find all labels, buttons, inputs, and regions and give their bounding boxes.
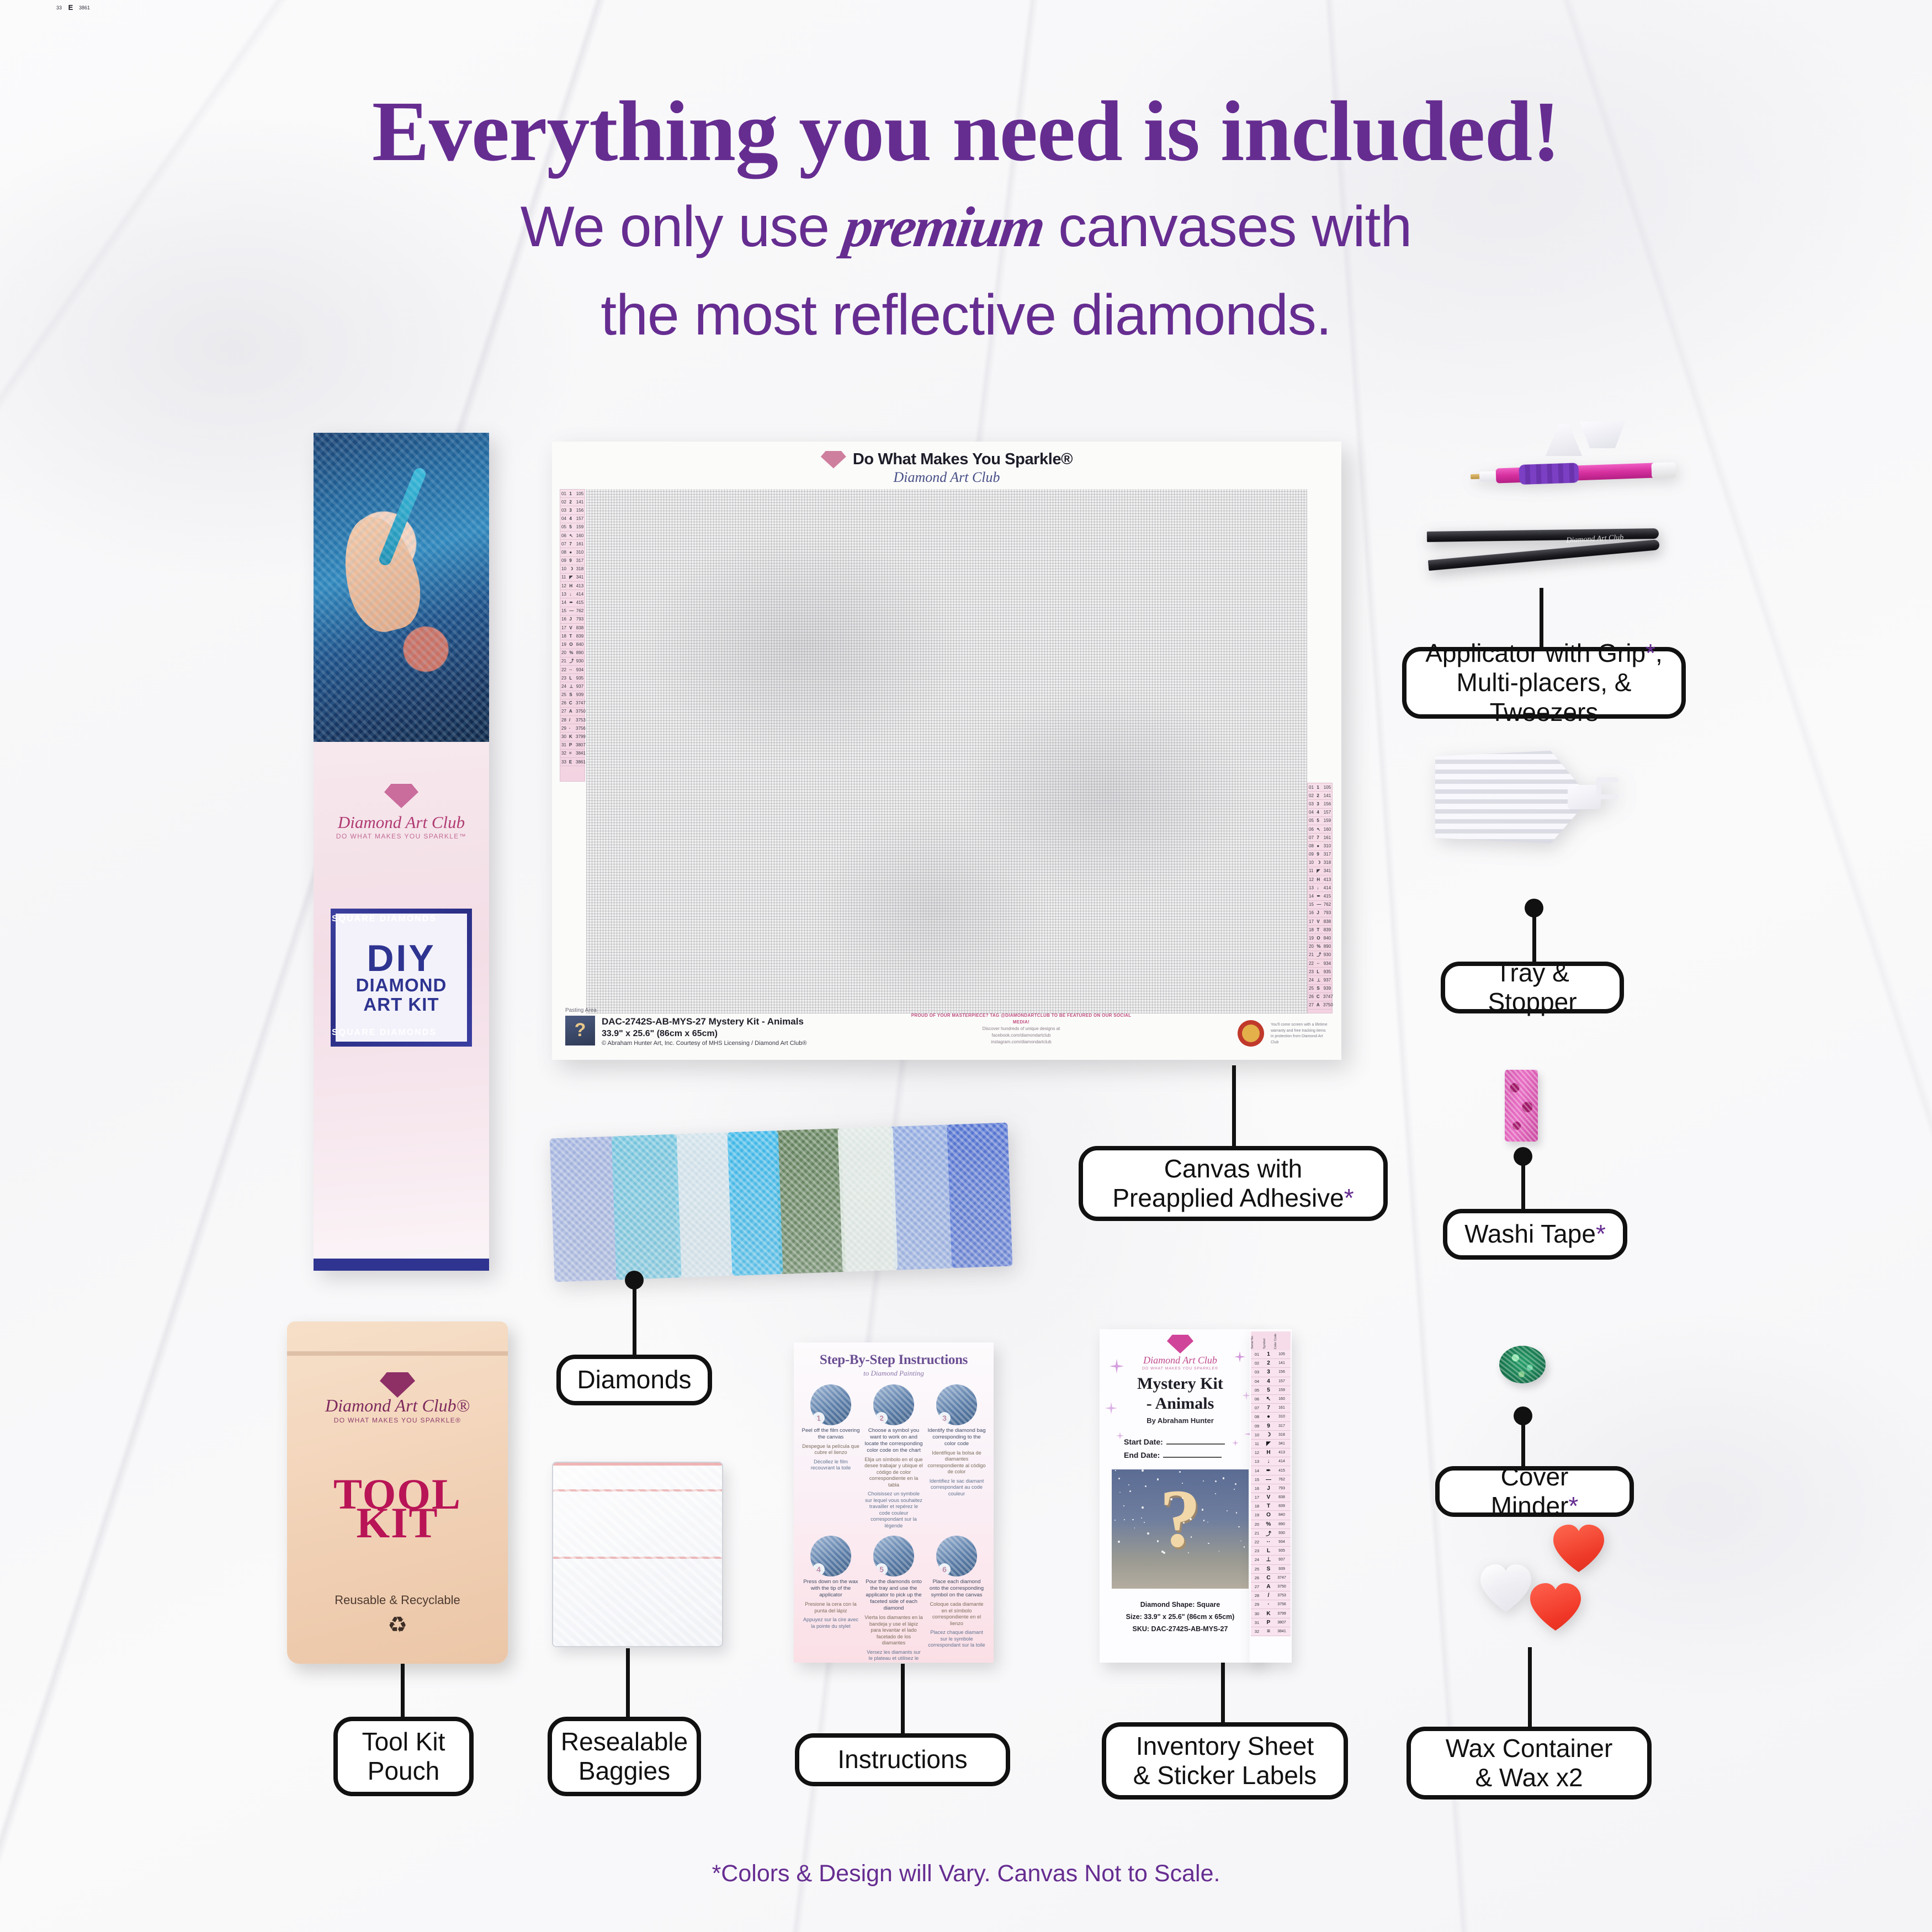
star-dot (1147, 1532, 1149, 1535)
star-dot (1141, 1517, 1142, 1519)
diamond-painting-canvas: Do What Makes You Sparkle® Diamond Art C… (552, 442, 1341, 1060)
star-dot (1182, 1483, 1183, 1484)
canvas-legend-row: 15—762 (560, 607, 585, 615)
star-dot (1202, 1509, 1203, 1510)
diy-title-line1: DIY (367, 941, 436, 976)
canvas-legend-row: 18T839 (1308, 926, 1332, 934)
diamond-bag (673, 1132, 736, 1277)
callout-wax-line1: Wax Container (1446, 1734, 1613, 1763)
sticker-row: 011105 (1251, 1350, 1291, 1359)
step-text-en: Peel off the film covering the canvas (802, 1427, 860, 1441)
canvas-legend-row: 31P3807 (560, 741, 585, 750)
sticker-row: 11◤341 (1251, 1440, 1291, 1448)
step-thumbnail: 3 (936, 1384, 977, 1425)
star-dot (1118, 1541, 1120, 1543)
diamond-icon (380, 1372, 415, 1398)
inventory-sku: SKU: DAC-2742S-AB-MYS-27 (1100, 1625, 1261, 1633)
canvas-legend-row: 16J793 (560, 615, 585, 624)
sticker-row: 20%890 (1251, 1520, 1291, 1529)
callout-canvas-line2: Preapplied Adhesive (1112, 1183, 1344, 1212)
inventory-brand-tagline: DO WHAT MAKES YOU SPARKLE® (1100, 1367, 1261, 1371)
diy-kit-box: Diamond Art Club DO WHAT MAKES YOU SPARK… (314, 433, 489, 1271)
tray-neck (1568, 785, 1601, 809)
sticker-row: 055159 (1251, 1386, 1291, 1395)
canvas-legend-row: 26C3747 (560, 699, 585, 708)
canvas-thumbnail: ? (565, 1016, 595, 1045)
callout-toolkit-line2: Pouch (368, 1756, 439, 1785)
callout-applicator-line1: Applicator with Grip (1425, 639, 1646, 667)
star-dot (1223, 1477, 1224, 1479)
applicator-grip (1519, 463, 1579, 485)
diamond-bag (728, 1130, 783, 1276)
sticker-table-body: 01110502214103315604415705515906↖1600771… (1251, 1350, 1291, 1636)
canvas-legend-row: 24⊥937 (560, 682, 585, 691)
step-number: 1 (813, 1412, 825, 1424)
tray-stopper (1596, 777, 1618, 799)
inventory-size: Size: 33.9" x 25.6" (86cm x 65cm) (1100, 1613, 1261, 1621)
sticker-row: 23L935 (1251, 1547, 1291, 1556)
callout-inventory-line1: Inventory Sheet (1136, 1732, 1314, 1760)
sticker-label-sheet: Serial No. Symbol Color Code 01110502214… (1250, 1329, 1292, 1663)
callout-toolkit-line1: Tool Kit (362, 1727, 445, 1756)
sticker-row: 28/3753 (1251, 1591, 1291, 1600)
canvas-legend-row: 08●310 (560, 548, 585, 556)
canvas-legend-row: 18T839 (560, 632, 585, 640)
sticker-row: 14✒415 (1251, 1466, 1291, 1475)
canvas-legend-row: 19O840 (1308, 934, 1332, 942)
sticker-row: 13↓414 (1251, 1457, 1291, 1466)
applicator-illustration (378, 466, 428, 567)
canvas-dimensions: 33.9" x 25.6" (86cm x 65cm) (602, 1028, 806, 1039)
canvas-legend-row: 13↓414 (560, 590, 585, 598)
step-text-fr: Décollez le film recouvrant la toile (802, 1459, 860, 1472)
step-text-es: Elija un símbolo en el que desee trabaja… (864, 1457, 923, 1489)
callout-wax-line2: & Wax x2 (1475, 1763, 1583, 1792)
canvas-legend-row: 32=3841 (560, 750, 585, 758)
disclaimer-footnote: *Colors & Design will Vary. Canvas Not t… (0, 1860, 1932, 1887)
callout-washi: Washi Tape* (1443, 1209, 1627, 1260)
leader-dot-cover-minder (1514, 1406, 1532, 1425)
start-date-field[interactable]: Start Date: (1124, 1437, 1225, 1446)
tweezers: Diamond Art Club (1427, 524, 1660, 571)
canvas-legend-left: 01110502214103315604415705515906↖1600771… (560, 489, 585, 782)
step-text-fr: Choisissez un symbole sur lequel vous so… (864, 1491, 923, 1529)
star-dot (1144, 1522, 1145, 1523)
baggie-seal-line (553, 1557, 723, 1559)
canvas-legend-row: 27A3750 (560, 708, 585, 716)
canvas-legend-row: 22··934 (560, 666, 585, 674)
canvas-legend-row: 25S939 (1308, 985, 1332, 993)
callout-washi-label: Washi Tape (1464, 1219, 1596, 1248)
end-date-rule (1163, 1457, 1222, 1458)
sticker-table-header: Serial No. Symbol Color Code (1251, 1331, 1291, 1350)
star-dot (1142, 1469, 1144, 1472)
leader-line-resealable (626, 1648, 630, 1719)
diamond-icon (384, 784, 418, 808)
start-date-label: Start Date: (1124, 1437, 1163, 1446)
step-text-en: Place each diamond onto the correspondin… (927, 1579, 986, 1599)
canvas-legend-row: 30K3799 (560, 733, 585, 741)
sticker-row: 21⤴930 (1251, 1529, 1291, 1538)
step-text-es: Despegue la película que cubre el lienzo (802, 1443, 860, 1456)
step-text-es: Presione la cera con la punta del lápiz (802, 1601, 860, 1614)
sticker-row: 099317 (1251, 1422, 1291, 1431)
step-text-fr: Placez chaque diamant sur le symbole cor… (927, 1630, 986, 1649)
multi-placer-icon (1546, 424, 1582, 456)
leader-line-instructions (901, 1664, 905, 1735)
sticker-row: 25S939 (1251, 1565, 1291, 1574)
wax-shape (1551, 1524, 1612, 1577)
canvas-pasting-area-label: Pasting Area (565, 1007, 597, 1013)
star-dot (1132, 1519, 1133, 1520)
inventory-preview-image: ? (1112, 1469, 1249, 1589)
step-text-en: Choose a symbol you want to work on and … (864, 1427, 923, 1454)
subtitle-script-word: premium (840, 194, 1048, 260)
star-dot (1191, 1536, 1192, 1538)
canvas-legend-row: 055159 (1308, 817, 1332, 825)
recycle-icon: ♻ (385, 1613, 410, 1637)
canvas-legend-row: 23L935 (560, 674, 585, 682)
canvas-legend-row: 33E3861 (560, 758, 585, 766)
instructions-sheet: Step-By-Step Instructions to Diamond Pai… (794, 1342, 994, 1663)
end-date-field[interactable]: End Date: (1124, 1451, 1222, 1459)
canvas-social-block: PROUD OF YOUR MASTERPIECE? TAG @DIAMONDA… (905, 1012, 1137, 1045)
diy-square-diamonds-bottom: SQUARE DIAMONDS (314, 1028, 455, 1038)
tool-kit-pouch: Diamond Art Club® DO WHAT MAKES YOU SPAR… (287, 1321, 508, 1664)
canvas-legend-row: 11◤341 (560, 574, 585, 582)
canvas-legend-row: 15—762 (1308, 901, 1332, 909)
subtitle-line-2: the most reflective diamonds. (0, 283, 1932, 348)
step-thumbnail: 6 (936, 1536, 977, 1577)
sticker-row: 24⊥937 (1251, 1556, 1291, 1564)
star-dot (1238, 1526, 1239, 1527)
leader-line-wax (1528, 1647, 1532, 1731)
step-thumbnail: 4 (810, 1536, 851, 1577)
diamond-tray (1435, 751, 1617, 843)
star-dot (1115, 1470, 1116, 1471)
step-text-en: Identify the diamond bag corresponding t… (927, 1427, 986, 1447)
sticker-row: 26C3747 (1251, 1574, 1291, 1583)
callout-canvas-line1: Canvas with (1164, 1154, 1303, 1183)
star-dot (1157, 1478, 1159, 1480)
sticker-row: 15—762 (1251, 1475, 1291, 1484)
leader-line-canvas (1232, 1065, 1236, 1148)
sticker-row: 30K3799 (1251, 1609, 1291, 1618)
canvas-legend-row: 13↓414 (1308, 884, 1332, 892)
instructions-subtitle: to Diamond Painting (802, 1369, 986, 1378)
diy-brand-tagline: DO WHAT MAKES YOU SPARKLE™ (314, 832, 489, 840)
canvas-legend-row: 099317 (1308, 851, 1332, 859)
pouch-title-line2: KIT (287, 1498, 508, 1548)
canvas-social-instagram: instagram.com/diamondartclub (905, 1039, 1137, 1045)
canvas-social-hotline: PROUD OF YOUR MASTERPIECE? TAG @DIAMONDA… (905, 1012, 1137, 1026)
sticker-row: 31P3807 (1251, 1618, 1291, 1627)
star-dot (1235, 1483, 1236, 1485)
sticker-row: 08●310 (1251, 1413, 1291, 1421)
diamond-icon (821, 451, 846, 469)
sticker-row: 12H413 (1251, 1448, 1291, 1457)
canvas-legend-row: 24⊥937 (1308, 976, 1332, 984)
step-number: 6 (938, 1563, 951, 1575)
inventory-artist: By Abraham Hunter (1100, 1416, 1261, 1425)
sparkle-icon (1232, 1440, 1239, 1446)
tray-body (1435, 751, 1583, 843)
diy-square-diamonds-top: SQUARE DIAMONDS (314, 914, 455, 924)
callout-canvas: Canvas withPreapplied Adhesive* (1079, 1146, 1388, 1221)
wax-piece-2 (1528, 1582, 1593, 1638)
diamond-bag (889, 1124, 955, 1270)
step-number: 3 (938, 1412, 951, 1424)
step-text-es: Coloque cada diamante en el símbolo corr… (927, 1601, 986, 1627)
diamond-bag (774, 1128, 846, 1274)
callout-inventory-line2: & Sticker Labels (1133, 1761, 1317, 1790)
sparkle-icon (1116, 1432, 1124, 1440)
canvas-legend-row: 033156 (1308, 800, 1332, 808)
star-dot (1236, 1512, 1237, 1513)
hand-illustration (332, 509, 429, 639)
canvas-footer-text: DAC-2742S-AB-MYS-27 Mystery Kit - Animal… (602, 1016, 806, 1048)
sticker-row: 06↖160 (1251, 1395, 1291, 1404)
diamond-bag (837, 1127, 898, 1272)
canvas-legend-row: 077161 (560, 540, 585, 548)
callout-diamonds: Diamonds (556, 1355, 712, 1405)
inventory-title-line1: Mystery Kit (1100, 1374, 1261, 1393)
diy-box-footer-bar (314, 1259, 489, 1271)
step-text-en: Pour the diamonds onto the tray and use … (864, 1579, 923, 1612)
canvas-social-promo: Discover hundreds of unique designs at (905, 1026, 1137, 1032)
callout-instructions: Instructions (795, 1733, 1010, 1786)
step-thumbnail: 2 (873, 1384, 914, 1425)
sticker-row: 18T839 (1251, 1502, 1291, 1511)
canvas-legend-row: 12H413 (1308, 875, 1332, 884)
canvas-legend-row: 14✒415 (560, 598, 585, 607)
applicator-cap (1651, 462, 1676, 479)
sticker-row: 077161 (1251, 1404, 1291, 1413)
inventory-diamond-shape: Diamond Shape: Square (1100, 1601, 1261, 1609)
canvas-legend-row: 20%890 (560, 649, 585, 657)
subtitle-post: canvases with (1058, 195, 1411, 259)
callout-applicator: Applicator with Grip*,Multi-placers, & T… (1402, 647, 1686, 719)
resealable-baggies (552, 1462, 723, 1647)
start-date-rule (1166, 1443, 1225, 1445)
canvas-header-main: Do What Makes You Sparkle® (853, 450, 1073, 469)
sticker-row: 17V838 (1251, 1493, 1291, 1502)
canvas-legend-row: 044157 (1308, 809, 1332, 817)
step-text-es: Vierta los diamantes en la bandeja y use… (864, 1615, 923, 1647)
canvas-warranty-text: You'll come screen with a lifetime warra… (1271, 1022, 1328, 1045)
callout-cover-minder-label: Cover Minder (1491, 1462, 1569, 1520)
leader-dot-washi (1514, 1147, 1532, 1166)
canvas-legend-row: 23L935 (1308, 968, 1332, 976)
instruction-step: 4Press down on the wax with the tip of t… (802, 1536, 860, 1663)
canvas-legend-row: 29·3756 (560, 724, 585, 733)
instruction-step: 5Pour the diamonds onto the tray and use… (864, 1536, 923, 1663)
leader-dot-tray (1525, 899, 1543, 917)
canvas-legend-row: 21⤴930 (1308, 951, 1332, 959)
canvas-legend-row: 099317 (560, 557, 585, 565)
diy-badge-inner: DIY DIAMOND ART KIT (336, 914, 467, 1042)
star-dot (1182, 1498, 1183, 1499)
star-dot (1208, 1543, 1209, 1544)
canvas-sku-title: DAC-2742S-AB-MYS-27 Mystery Kit - Animal… (602, 1016, 806, 1028)
star-dot (1183, 1522, 1185, 1524)
sticker-row: 27A3750 (1251, 1583, 1291, 1591)
canvas-legend-row: 14✒415 (1308, 892, 1332, 900)
instructions-steps-row-1: 1Peel off the film covering the canvasDe… (802, 1384, 986, 1529)
canvas-legend-row: 10☽318 (1308, 859, 1332, 867)
sticker-row: 022141 (1251, 1359, 1291, 1368)
instruction-step: 6Place each diamond onto the correspondi… (927, 1536, 986, 1663)
canvas-legend-row: 19O840 (560, 640, 585, 649)
leader-line-inventory (1221, 1663, 1225, 1724)
canvas-legend-row: 08●310 (1308, 842, 1332, 850)
tweezer-arm-lower (1428, 539, 1660, 571)
canvas-legend-row: 22··934 (1308, 959, 1332, 968)
canvas-legend-row: 16J793 (1308, 909, 1332, 917)
callout-tray-label: Tray & Stopper (1459, 958, 1605, 1017)
step-number: 4 (813, 1563, 825, 1575)
callout-resealable: ResealableBaggies (548, 1717, 701, 1796)
callout-diamonds-label: Diamonds (577, 1365, 691, 1394)
callout-wax: Wax Container& Wax x2 (1406, 1727, 1652, 1800)
canvas-header-script: Diamond Art Club (552, 469, 1341, 486)
diamond-bag (612, 1134, 682, 1280)
infographic-canvas: Everything you need is included! We only… (0, 0, 1932, 1932)
canvas-symbol-grid (586, 489, 1307, 1013)
star-dot (1157, 1540, 1159, 1542)
canvas-legend-row: 06↖160 (560, 532, 585, 540)
canvas-legend-row: 022141 (560, 498, 585, 506)
sticker-row: 16J793 (1251, 1484, 1291, 1493)
step-text-fr: Versez les diamants sur le plateau et ut… (864, 1649, 923, 1663)
cover-minder-magnet (1499, 1346, 1546, 1383)
baggie-seal-line (553, 1489, 723, 1492)
canvas-header: Do What Makes You Sparkle® (552, 450, 1341, 469)
instructions-title: Step-By-Step Instructions (802, 1352, 986, 1368)
canvas-legend-row: 11◤341 (1308, 867, 1332, 875)
subtitle-pre: We only use (521, 195, 829, 259)
canvas-legend-row: 022141 (1308, 792, 1332, 800)
canvas-social-facebook: facebook.com/diamondartclub (905, 1032, 1137, 1039)
sticker-row: 044157 (1251, 1377, 1291, 1386)
canvas-legend-row: 10☽318 (560, 565, 585, 574)
callout-inventory: Inventory Sheet& Sticker Labels (1102, 1722, 1348, 1800)
diamond-icon (1167, 1335, 1193, 1354)
step-thumbnail: 5 (873, 1536, 914, 1577)
canvas-legend-row: 21⤴930 (560, 657, 585, 666)
wax-shape (1528, 1582, 1593, 1638)
tweezer-arm-upper (1427, 528, 1659, 542)
sticker-row: 22··934 (1251, 1538, 1291, 1547)
multi-placer-icon (1580, 422, 1625, 448)
callout-resealable-line2: Baggies (578, 1756, 670, 1785)
canvas-copyright: © Abraham Hunter Art, Inc. Courtesy of M… (602, 1039, 806, 1048)
callout-resealable-line1: Resealable (561, 1727, 688, 1756)
canvas-legend-row: 20%890 (1308, 943, 1332, 951)
sticker-extra-row: 33E3861 (53, 3, 93, 12)
inventory-brand-name: Diamond Art Club (1100, 1355, 1261, 1366)
sticker-row: 033156 (1251, 1368, 1291, 1377)
pouch-zipper (287, 1351, 508, 1356)
callout-applicator-line2: Multi-placers, & Tweezers (1457, 668, 1632, 726)
canvas-legend-row: 17V838 (1308, 917, 1332, 926)
sticker-row: 10☽318 (1251, 1431, 1291, 1440)
callout-tray: Tray & Stopper (1441, 962, 1624, 1013)
sticker-row: 32=3841 (1251, 1627, 1291, 1636)
step-text-en: Press down on the wax with the tip of th… (802, 1579, 860, 1599)
applicator-pen (1457, 459, 1678, 489)
step-number: 5 (875, 1563, 888, 1575)
diy-box-photo (314, 433, 489, 742)
canvas-legend-row: 077161 (1308, 834, 1332, 842)
diamond-baggies (550, 1123, 1013, 1282)
step-text-fr: Appuyez sur la cire avec la pointe du st… (802, 1617, 860, 1630)
callout-toolkit: Tool KitPouch (333, 1717, 474, 1796)
diy-brand-name: Diamond Art Club (314, 813, 489, 832)
canvas-legend-row: 011105 (560, 490, 585, 498)
diy-badge: DIY DIAMOND ART KIT (331, 909, 472, 1047)
inventory-sheet: Diamond Art Club DO WHAT MAKES YOU SPARK… (1100, 1329, 1261, 1663)
subtitle-line-1: We only use premium canvases with (0, 194, 1932, 260)
instruction-step: 3Identify the diamond bag corresponding … (927, 1384, 986, 1529)
canvas-legend-row: 011105 (1308, 783, 1332, 792)
canvas-legend-right: 01110502214103315604415705515906↖1600771… (1307, 783, 1333, 1013)
sticker-header-symbol: Symbol (1263, 1339, 1274, 1349)
page-title: Everything you need is included! (0, 82, 1932, 181)
instruction-step: 1Peel off the film covering the canvasDe… (802, 1384, 860, 1529)
canvas-legend-row: 27A3750 (1308, 1001, 1332, 1010)
step-text-fr: Identifiez le sac diamant correspondant … (927, 1478, 986, 1498)
pouch-brand-tagline: DO WHAT MAKES YOU SPARKLE® (287, 1416, 508, 1424)
sticker-header-serial: Serial No. (1251, 1335, 1263, 1349)
star-dot (1123, 1505, 1124, 1506)
canvas-legend-row: 26C3747 (1308, 993, 1332, 1001)
callout-instructions-label: Instructions (837, 1745, 967, 1774)
diy-title-line2: DIAMOND (356, 976, 447, 995)
end-date-label: End Date: (1124, 1451, 1160, 1459)
diamond-bag (550, 1136, 620, 1282)
diamond-bag (947, 1123, 1012, 1268)
star-dot (1142, 1506, 1144, 1509)
canvas-legend-row: 06↖160 (1308, 825, 1332, 834)
pouch-brand-name: Diamond Art Club® (287, 1395, 508, 1416)
sticker-row: 29·3756 (1251, 1600, 1291, 1609)
diy-title-line3: ART KIT (363, 995, 439, 1015)
star-dot (1124, 1519, 1125, 1520)
instructions-steps-row-2: 4Press down on the wax with the tip of t… (802, 1536, 986, 1663)
star-dot (1163, 1552, 1165, 1554)
instruction-step: 2Choose a symbol you want to work on and… (864, 1384, 923, 1529)
wax-piece-1 (1551, 1524, 1612, 1577)
canvas-quality-seal (1238, 1020, 1264, 1047)
canvas-legend-row: 17V838 (560, 624, 585, 632)
pouch-reusable-text: Reusable & Recyclable (287, 1593, 508, 1607)
callout-cover-minder: Cover Minder* (1435, 1466, 1634, 1517)
leader-dot-diamonds (625, 1271, 644, 1289)
star-dot (1190, 1518, 1192, 1520)
step-thumbnail: 1 (810, 1384, 851, 1425)
sticker-row: 19O840 (1251, 1511, 1291, 1520)
mystery-question-mark: ? (1112, 1477, 1249, 1560)
canvas-legend-row: 28/3753 (560, 716, 585, 724)
sticker-header-color: Color Code (1274, 1334, 1289, 1349)
step-text-es: Identifique la bolsa de diamantes corres… (927, 1450, 986, 1475)
step-number: 2 (875, 1412, 888, 1424)
canvas-legend-row: 044157 (560, 515, 585, 523)
washi-tape-roll (1505, 1070, 1538, 1142)
canvas-legend-row: 25S939 (560, 691, 585, 699)
leader-line-toolkit (401, 1664, 405, 1719)
